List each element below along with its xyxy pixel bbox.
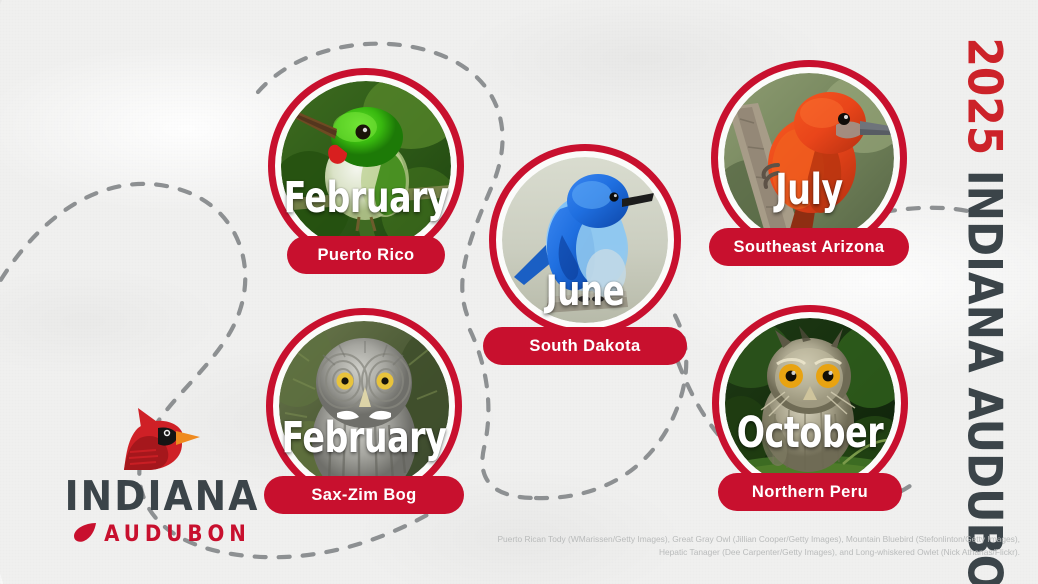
trip-month-label: June (502, 266, 667, 315)
title-year: 2025 (957, 38, 1012, 156)
credits-line-1: Puerto Rican Tody (WMarissen/Getty Image… (420, 533, 1020, 546)
trip-location-pill[interactable]: Sax-Zim Bog (264, 476, 464, 514)
trip-location-pill[interactable]: Puerto Rico (287, 236, 445, 274)
trip-location-pill[interactable]: Northern Peru (718, 473, 902, 511)
trip-card-southeast-arizona[interactable]: July Southeast Arizona (711, 60, 907, 280)
cardinal-bird-icon (62, 404, 262, 474)
indiana-audubon-logo[interactable]: INDIANA AUDUBON (62, 404, 262, 548)
trip-card-northern-peru[interactable]: October Northern Peru (712, 305, 908, 525)
credits-line-2: Hepatic Tanager (Dee Carpenter/Getty Ima… (420, 546, 1020, 559)
bird-photo-puerto-rican-tody (281, 81, 451, 251)
photo-credits: Puerto Rican Tody (WMarissen/Getty Image… (420, 533, 1020, 559)
bird-photo-great-gray-owl (279, 321, 449, 491)
trip-location-pill[interactable]: Southeast Arizona (709, 228, 909, 266)
bird-photo-long-whiskered-owlet (725, 318, 895, 488)
trip-month-label: October (726, 408, 895, 458)
trip-card-sax-zim-bog[interactable]: February Sax-Zim Bog (266, 308, 462, 528)
poster-canvas: February Puerto Rico (0, 0, 1038, 584)
trip-month-label: February (282, 173, 451, 223)
trip-month-label: February (280, 413, 449, 463)
trip-location-pill[interactable]: South Dakota (483, 327, 687, 365)
trip-month-label: July (725, 165, 894, 215)
bird-photo-hepatic-tanager (724, 73, 894, 243)
teardrop-icon (73, 521, 97, 548)
poster-title: 2025 INDIANA AUDUBON TRIPS (936, 36, 1032, 536)
trip-location-label: Puerto Rico (318, 246, 415, 265)
logo-text-audubon: AUDUBON (104, 524, 251, 546)
trip-location-label: Sax-Zim Bog (311, 486, 416, 505)
logo-text-indiana: INDIANA (60, 476, 264, 517)
title-organization: INDIANA AUDUBON (957, 170, 1012, 584)
trip-location-label: South Dakota (529, 337, 640, 356)
trip-location-label: Northern Peru (752, 483, 868, 502)
trip-card-south-dakota[interactable]: June South Dakota (489, 144, 681, 364)
trip-location-label: Southeast Arizona (733, 238, 884, 257)
trip-card-puerto-rico[interactable]: February Puerto Rico (268, 68, 464, 288)
